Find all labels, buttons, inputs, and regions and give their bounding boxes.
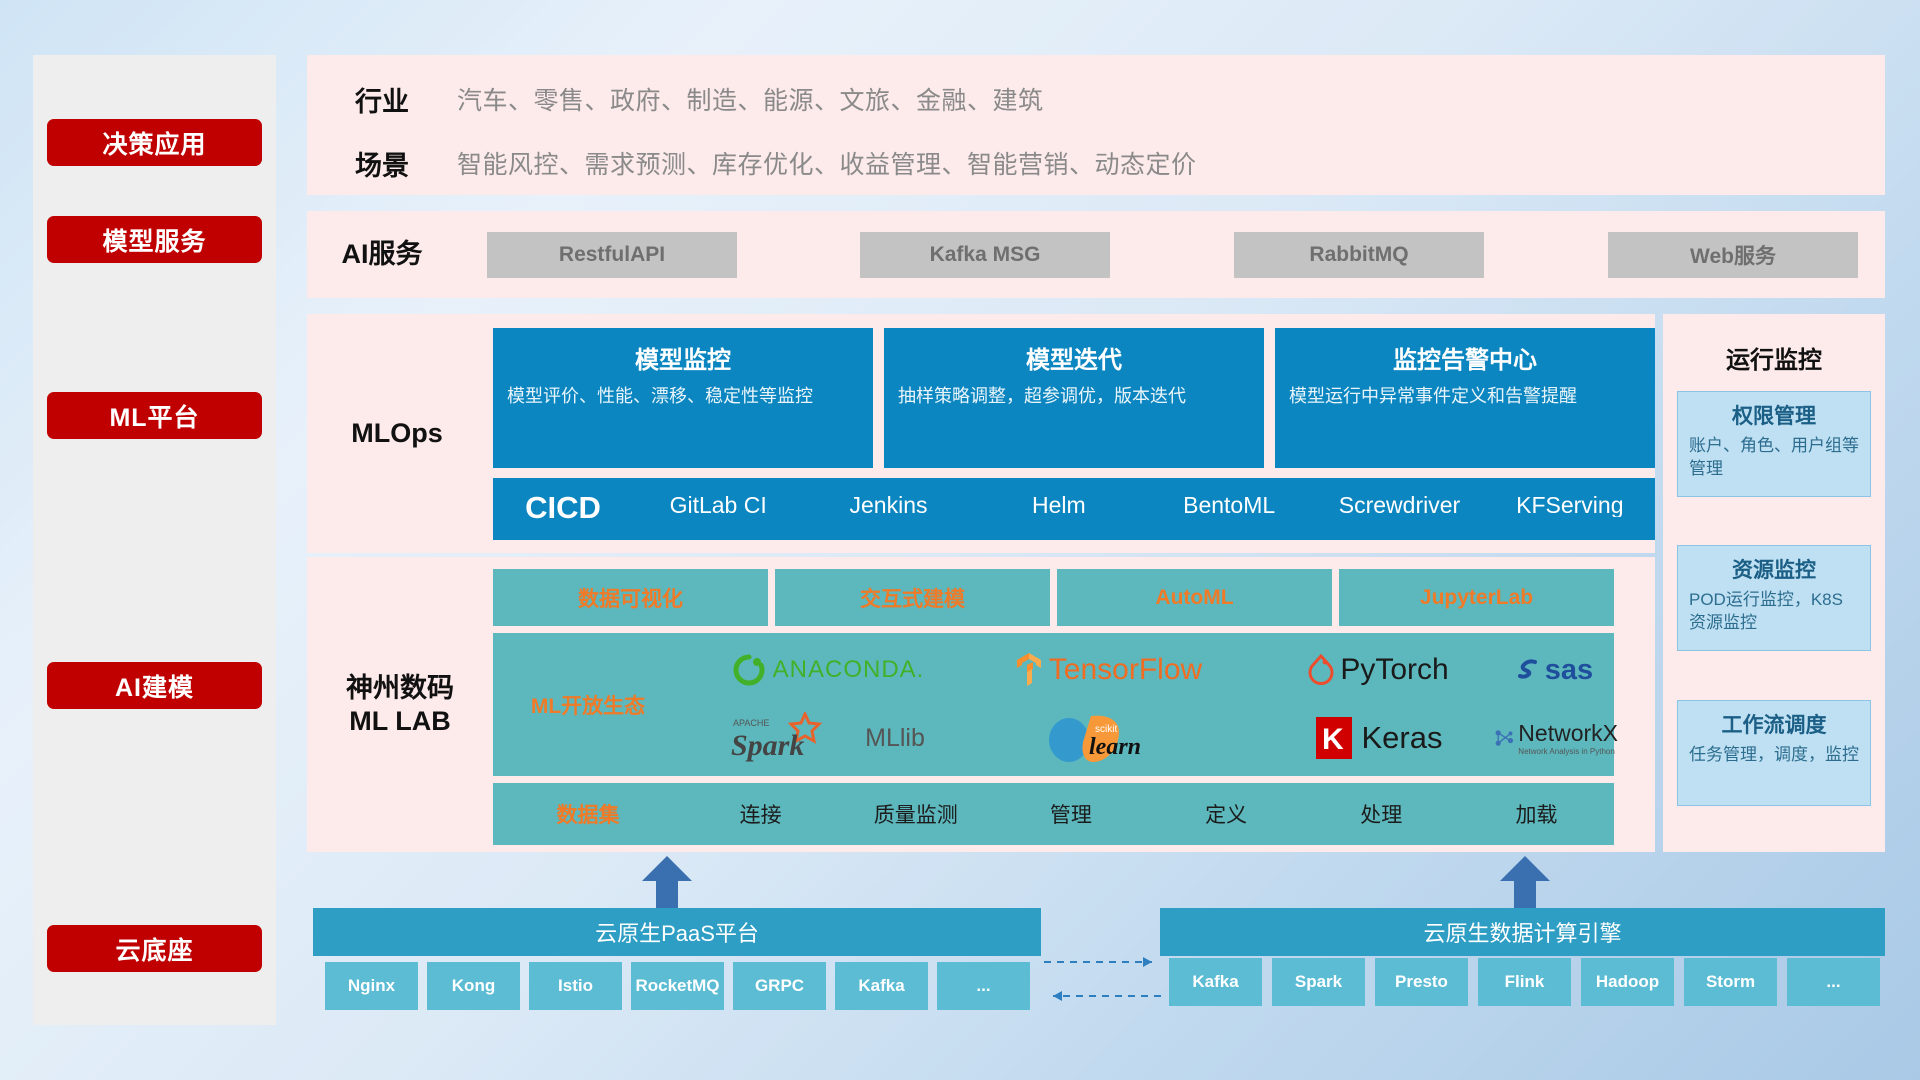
mllab-tab-jupyterlab[interactable]: JupyterLab xyxy=(1339,569,1614,626)
dashed-connector-icon xyxy=(1040,950,1165,1010)
engine-tag-presto[interactable]: Presto xyxy=(1375,958,1468,1006)
logo-keras-text: Keras xyxy=(1362,720,1443,756)
logo-spark-mllib: APACHE Spark MLlib xyxy=(693,705,963,771)
ai-service-chip-web-service[interactable]: Web服务 xyxy=(1608,232,1858,278)
mlops-card-title: 模型监控 xyxy=(507,340,859,375)
paas-tag-istio[interactable]: Istio xyxy=(529,962,622,1010)
engine-tag-more[interactable]: ... xyxy=(1787,958,1880,1006)
mllab-tab-data-visualization[interactable]: 数据可视化 xyxy=(493,569,768,626)
logo-scikit-learn: scikit learn xyxy=(963,705,1253,771)
ai-service-chip-kafka-msg[interactable]: Kafka MSG xyxy=(860,232,1110,278)
cicd-item-helm[interactable]: Helm xyxy=(974,478,1144,517)
paas-platform-bar[interactable]: 云原生PaaS平台 xyxy=(313,908,1041,956)
mlops-card-alert-center[interactable]: 监控告警中心 模型运行中异常事件定义和告警提醒 xyxy=(1275,328,1655,468)
svg-text:Spark: Spark xyxy=(731,729,804,762)
mllab-tab-automl[interactable]: AutoML xyxy=(1057,569,1332,626)
sidebar-item-ml-platform[interactable]: ML平台 xyxy=(47,392,262,439)
dataset-item-process[interactable]: 处理 xyxy=(1304,799,1459,829)
paas-tag-kafka[interactable]: Kafka xyxy=(835,962,928,1010)
sidebar-item-ai-modeling[interactable]: AI建模 xyxy=(47,662,262,709)
svg-text:APACHE: APACHE xyxy=(733,718,769,728)
sidebar-item-decision-app[interactable]: 决策应用 xyxy=(47,119,262,166)
mlops-label: MLOps xyxy=(307,314,487,553)
mllab-label-line2: ML LAB xyxy=(349,705,451,738)
logo-networkx: NetworkX Network Analysis in Python xyxy=(1493,705,1618,771)
cicd-item-gitlab-ci[interactable]: GitLab CI xyxy=(633,478,803,517)
cicd-label: CICD xyxy=(493,478,633,526)
industry-label: 行业 xyxy=(307,80,457,119)
runtime-monitor-title: 运行监控 xyxy=(1663,340,1885,375)
paas-tag-more[interactable]: ... xyxy=(937,962,1030,1010)
sidebar-item-cloud-base[interactable]: 云底座 xyxy=(47,925,262,972)
dataset-item-quality[interactable]: 质量监测 xyxy=(838,799,993,829)
monitor-card-title: 工作流调度 xyxy=(1689,709,1859,739)
mlops-card-body: 模型运行中异常事件定义和告警提醒 xyxy=(1289,384,1641,410)
cicd-item-jenkins[interactable]: Jenkins xyxy=(803,478,973,517)
scene-label: 场景 xyxy=(307,144,457,183)
ai-modeling-band: 神州数码 ML LAB 数据可视化 交互式建模 AutoML JupyterLa… xyxy=(307,557,1655,852)
mlops-card-model-iteration[interactable]: 模型迭代 抽样策略调整，超参调优，版本迭代 xyxy=(884,328,1264,468)
mlops-card-body: 模型评价、性能、漂移、稳定性等监控 xyxy=(507,384,859,410)
dataset-item-define[interactable]: 定义 xyxy=(1149,799,1304,829)
keras-icon: K xyxy=(1314,715,1354,761)
dataset-row: 数据集 连接 质量监测 管理 定义 处理 加载 xyxy=(493,783,1614,845)
data-engine-bar[interactable]: 云原生数据计算引擎 xyxy=(1160,908,1885,956)
paas-tag-grpc[interactable]: GRPC xyxy=(733,962,826,1010)
logo-tensorflow-text: TensorFlow xyxy=(1049,653,1202,687)
monitor-card-title: 资源监控 xyxy=(1689,554,1859,584)
pytorch-icon xyxy=(1307,654,1335,686)
monitor-card-body: POD运行监控，K8S资源监控 xyxy=(1689,589,1859,635)
mlops-card-title: 监控告警中心 xyxy=(1289,340,1641,375)
left-rail: 决策应用 模型服务 ML平台 AI建模 云底座 xyxy=(33,55,276,1025)
scene-value: 智能风控、需求预测、库存优化、收益管理、智能营销、动态定价 xyxy=(457,145,1197,181)
monitor-card-permission[interactable]: 权限管理 账户、角色、用户组等管理 xyxy=(1677,391,1871,497)
svg-text:learn: learn xyxy=(1089,734,1141,760)
scikit-learn-icon: scikit learn xyxy=(1033,708,1183,768)
cicd-item-screwdriver[interactable]: Screwdriver xyxy=(1314,478,1484,517)
ml-platform-band: MLOps 模型监控 模型评价、性能、漂移、稳定性等监控 模型迭代 抽样策略调整… xyxy=(307,314,1655,553)
spark-icon: APACHE Spark xyxy=(731,712,859,764)
anaconda-icon xyxy=(732,653,766,687)
decision-application-band: 行业 汽车、零售、政府、制造、能源、文旅、金融、建筑 场景 智能风控、需求预测、… xyxy=(307,55,1885,195)
paas-tag-kong[interactable]: Kong xyxy=(427,962,520,1010)
mllab-ecosystem-block: ML开放生态 ANACONDA. TensorFlow xyxy=(493,633,1614,776)
svg-text:K: K xyxy=(1322,723,1344,756)
engine-tag-flink[interactable]: Flink xyxy=(1478,958,1571,1006)
monitor-card-title: 权限管理 xyxy=(1689,400,1859,430)
ai-service-label: AI服务 xyxy=(307,211,457,298)
monitor-card-resource[interactable]: 资源监控 POD运行监控，K8S资源监控 xyxy=(1677,545,1871,651)
monitor-card-body: 账户、角色、用户组等管理 xyxy=(1689,435,1859,481)
dataset-item-connect[interactable]: 连接 xyxy=(683,799,838,829)
logo-keras: K Keras xyxy=(1253,705,1503,771)
logo-sas: sas xyxy=(1493,639,1613,701)
logo-networkx-text: NetworkX xyxy=(1518,720,1618,747)
paas-tag-nginx[interactable]: Nginx xyxy=(325,962,418,1010)
arrow-up-paas-icon xyxy=(640,856,694,908)
arrow-up-engine-icon xyxy=(1498,856,1552,908)
mlops-card-title: 模型迭代 xyxy=(898,340,1250,375)
engine-tag-hadoop[interactable]: Hadoop xyxy=(1581,958,1674,1006)
ai-service-band: AI服务 RestfulAPI Kafka MSG RabbitMQ Web服务 xyxy=(307,211,1885,298)
logo-networkx-subtitle: Network Analysis in Python xyxy=(1518,747,1618,756)
runtime-monitor-column: 运行监控 权限管理 账户、角色、用户组等管理 资源监控 POD运行监控，K8S资… xyxy=(1663,314,1885,852)
dataset-item-load[interactable]: 加载 xyxy=(1459,799,1614,829)
mllab-tab-interactive-modeling[interactable]: 交互式建模 xyxy=(775,569,1050,626)
ai-service-chip-rabbitmq[interactable]: RabbitMQ xyxy=(1234,232,1484,278)
logo-tensorflow: TensorFlow xyxy=(963,639,1253,701)
paas-tag-rocketmq[interactable]: RocketMQ xyxy=(631,962,724,1010)
industry-value: 汽车、零售、政府、制造、能源、文旅、金融、建筑 xyxy=(457,81,1044,117)
dataset-label: 数据集 xyxy=(493,799,683,829)
ai-service-chip-restfulapi[interactable]: RestfulAPI xyxy=(487,232,737,278)
mllab-label: 神州数码 ML LAB xyxy=(307,557,493,852)
cicd-row: CICD GitLab CI Jenkins Helm BentoML Scre… xyxy=(493,478,1655,540)
mlops-card-body: 抽样策略调整，超参调优，版本迭代 xyxy=(898,384,1250,410)
logo-pytorch: PyTorch xyxy=(1253,639,1503,701)
cicd-item-kfserving[interactable]: KFServing xyxy=(1485,478,1655,517)
logo-pytorch-text: PyTorch xyxy=(1340,653,1448,687)
sas-icon xyxy=(1513,655,1543,685)
mlops-card-model-monitor[interactable]: 模型监控 模型评价、性能、漂移、稳定性等监控 xyxy=(493,328,873,468)
mllab-label-line1: 神州数码 xyxy=(346,672,454,705)
cicd-item-bentoml[interactable]: BentoML xyxy=(1144,478,1314,517)
logo-mllib-text: MLlib xyxy=(865,724,925,753)
monitor-card-workflow[interactable]: 工作流调度 任务管理，调度，监控 xyxy=(1677,700,1871,806)
engine-tag-spark[interactable]: Spark xyxy=(1272,958,1365,1006)
logo-anaconda: ANACONDA. xyxy=(693,639,963,701)
monitor-card-body: 任务管理，调度，监控 xyxy=(1689,744,1859,767)
dataset-item-manage[interactable]: 管理 xyxy=(993,799,1148,829)
networkx-icon xyxy=(1493,720,1516,756)
sidebar-item-model-service[interactable]: 模型服务 xyxy=(47,216,262,263)
tensorflow-icon xyxy=(1014,652,1044,688)
engine-tag-storm[interactable]: Storm xyxy=(1684,958,1777,1006)
mllab-ecosystem-label: ML开放生态 xyxy=(493,633,683,776)
logo-anaconda-text: ANACONDA. xyxy=(773,656,925,684)
engine-tag-kafka[interactable]: Kafka xyxy=(1169,958,1262,1006)
logo-sas-text: sas xyxy=(1545,654,1593,687)
